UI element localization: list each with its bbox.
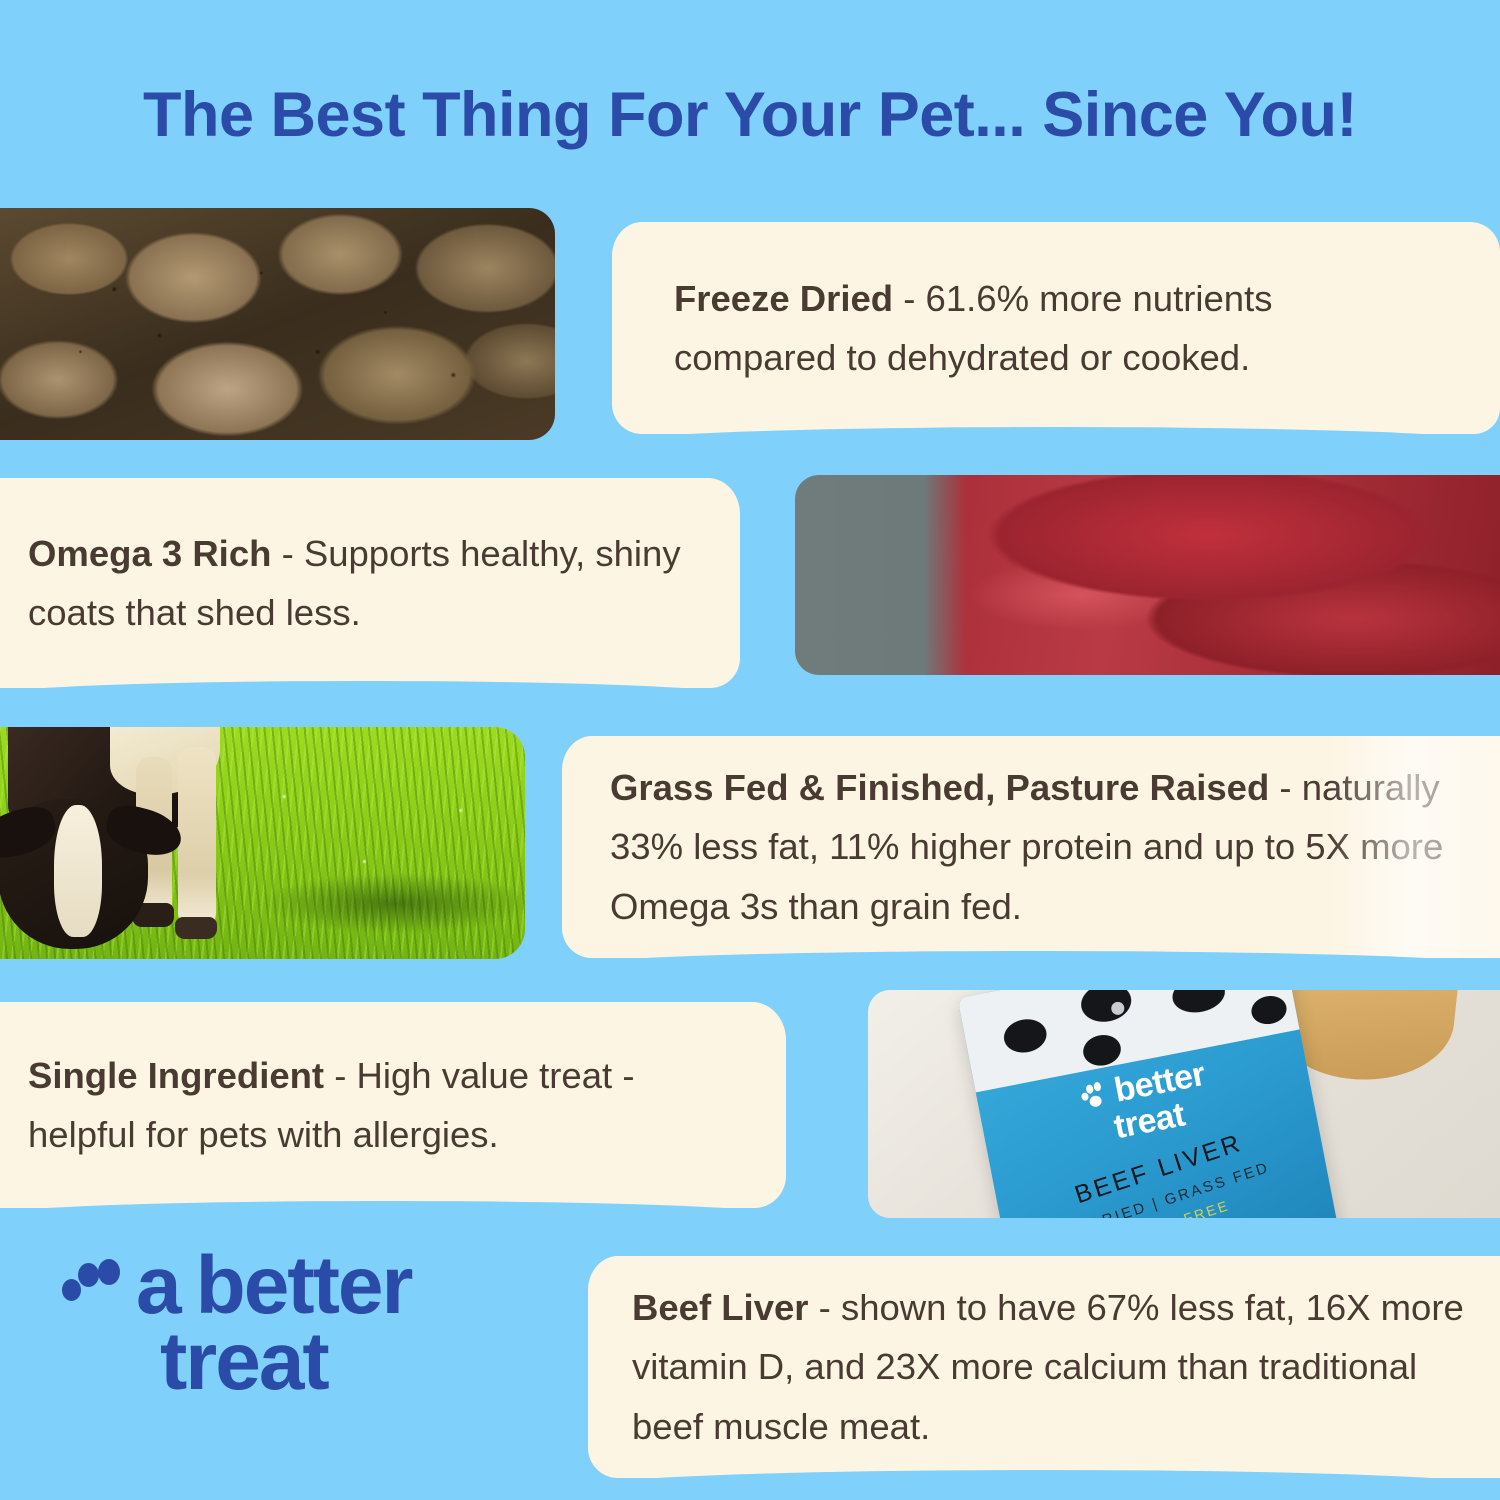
- benefit-dash-grass-fed: -: [1269, 767, 1301, 808]
- benefit-heading-freeze-dried: Freeze Dried: [674, 278, 893, 319]
- brand-word-a: a: [136, 1252, 180, 1319]
- freeze-dried-treats-photo: [0, 208, 555, 440]
- benefit-card-single-ingredient: Single Ingredient - High value treat - h…: [0, 1002, 786, 1208]
- brand-word-treat: treat: [160, 1319, 502, 1406]
- paw-icon: [1078, 1080, 1108, 1110]
- benefit-dash-freeze-dried: -: [893, 278, 925, 319]
- benefit-dash-omega-3-rich: -: [271, 533, 303, 574]
- page-title: The Best Thing For Your Pet... Since You…: [143, 79, 1357, 151]
- benefit-heading-single-ingredient: Single Ingredient: [28, 1055, 324, 1096]
- brand-logo: a better treat: [62, 1252, 502, 1406]
- benefit-heading-grass-fed: Grass Fed & Finished, Pasture Raised: [610, 767, 1269, 808]
- benefit-text-grass-fed: Grass Fed & Finished, Pasture Raised - n…: [610, 758, 1478, 935]
- brand-word-better: better: [196, 1252, 412, 1319]
- benefit-card-freeze-dried: Freeze Dried - 61.6% more nutrients comp…: [612, 222, 1500, 434]
- benefit-heading-beef-liver: Beef Liver: [632, 1287, 809, 1328]
- product-bag: better treat BEEF LIVER ZE DRIED | GRASS…: [957, 990, 1338, 1218]
- cow-rear-hoof: [175, 917, 217, 939]
- paw-icon: [62, 1257, 120, 1315]
- header-banner: The Best Thing For Your Pet... Since You…: [0, 60, 1500, 170]
- benefit-text-omega-3-rich: Omega 3 Rich - Supports healthy, shiny c…: [28, 524, 696, 642]
- cow-face-blaze: [54, 805, 102, 937]
- benefit-text-beef-liver: Beef Liver - shown to have 67% less fat,…: [632, 1278, 1474, 1455]
- cow-rear-leg: [178, 747, 216, 927]
- brand-logo-row-1: a better: [62, 1252, 502, 1319]
- benefit-dash-single-ingredient: -: [324, 1055, 356, 1096]
- benefit-card-grass-fed: Grass Fed & Finished, Pasture Raised - n…: [562, 736, 1500, 958]
- benefit-text-single-ingredient: Single Ingredient - High value treat - h…: [28, 1046, 742, 1164]
- raw-beef-photo: [795, 475, 1500, 675]
- benefit-card-beef-liver: Beef Liver - shown to have 67% less fat,…: [588, 1256, 1500, 1478]
- benefit-heading-omega-3-rich: Omega 3 Rich: [28, 533, 271, 574]
- product-package-photo: better treat BEEF LIVER ZE DRIED | GRASS…: [868, 990, 1500, 1218]
- grazing-cow-photo: [0, 727, 525, 959]
- benefit-text-freeze-dried: Freeze Dried - 61.6% more nutrients comp…: [674, 269, 1442, 387]
- benefit-card-omega-3-rich: Omega 3 Rich - Supports healthy, shiny c…: [0, 478, 740, 688]
- benefit-dash-beef-liver: -: [809, 1287, 841, 1328]
